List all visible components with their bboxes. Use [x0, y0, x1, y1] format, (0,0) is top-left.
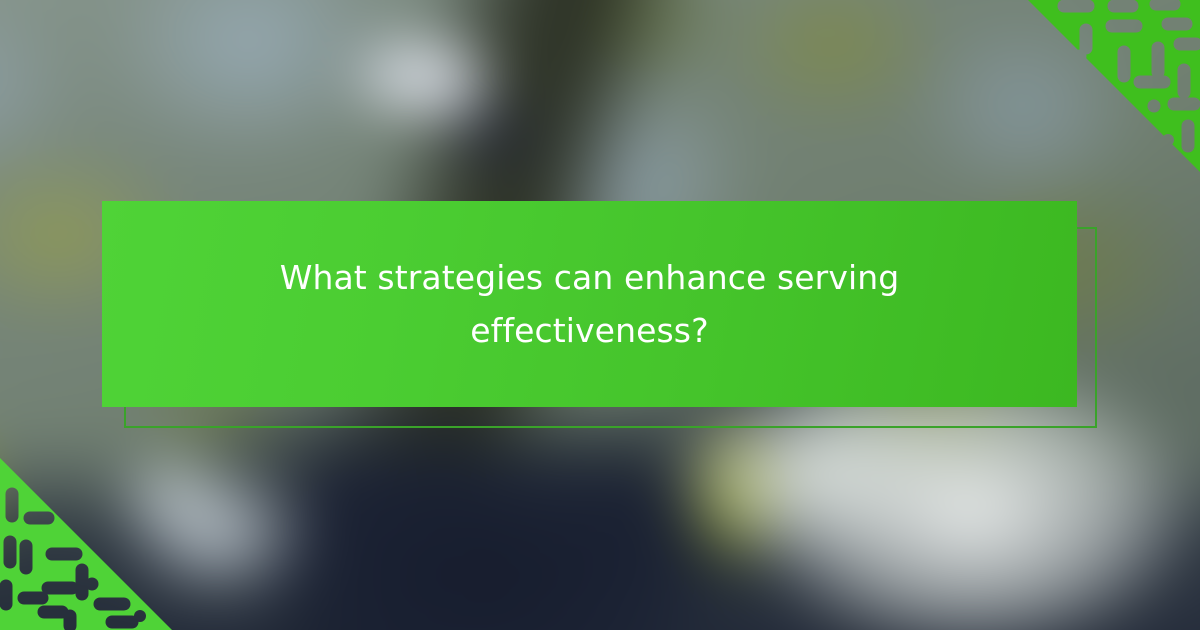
headline-text: What strategies can enhance serving effe… — [260, 251, 920, 358]
headline-panel: What strategies can enhance serving effe… — [102, 201, 1077, 407]
banner-card: What strategies can enhance serving effe… — [0, 0, 1200, 630]
